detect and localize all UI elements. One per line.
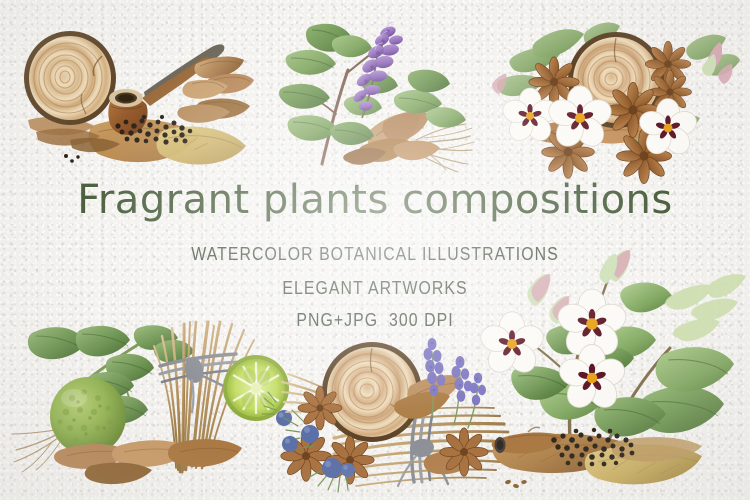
preview-canvas: Fragrant plants compositions WATERCOLOR …	[0, 0, 750, 500]
lime-slice	[223, 355, 289, 421]
subtitle-line-1: WATERCOLOR BOTANICAL ILLUSTRATIONS	[45, 244, 705, 265]
composition-top-right	[492, 22, 740, 182]
peppercorns	[504, 479, 527, 489]
composition-top-left	[14, 22, 254, 180]
composition-top-center	[278, 18, 474, 178]
composition-bottom-left	[12, 322, 292, 494]
subtitle-line-2: ELEGANT ARTWORKS	[45, 278, 705, 299]
wood-slice	[322, 342, 422, 442]
wood-slice	[24, 31, 116, 125]
page-title: Fragrant plants compositions	[0, 176, 750, 224]
subtitle-line-3: PNG+JPG 300 DPI	[45, 310, 705, 331]
roots	[12, 430, 60, 472]
wood-pieces	[54, 439, 242, 484]
bergamot-fruit	[50, 377, 126, 455]
